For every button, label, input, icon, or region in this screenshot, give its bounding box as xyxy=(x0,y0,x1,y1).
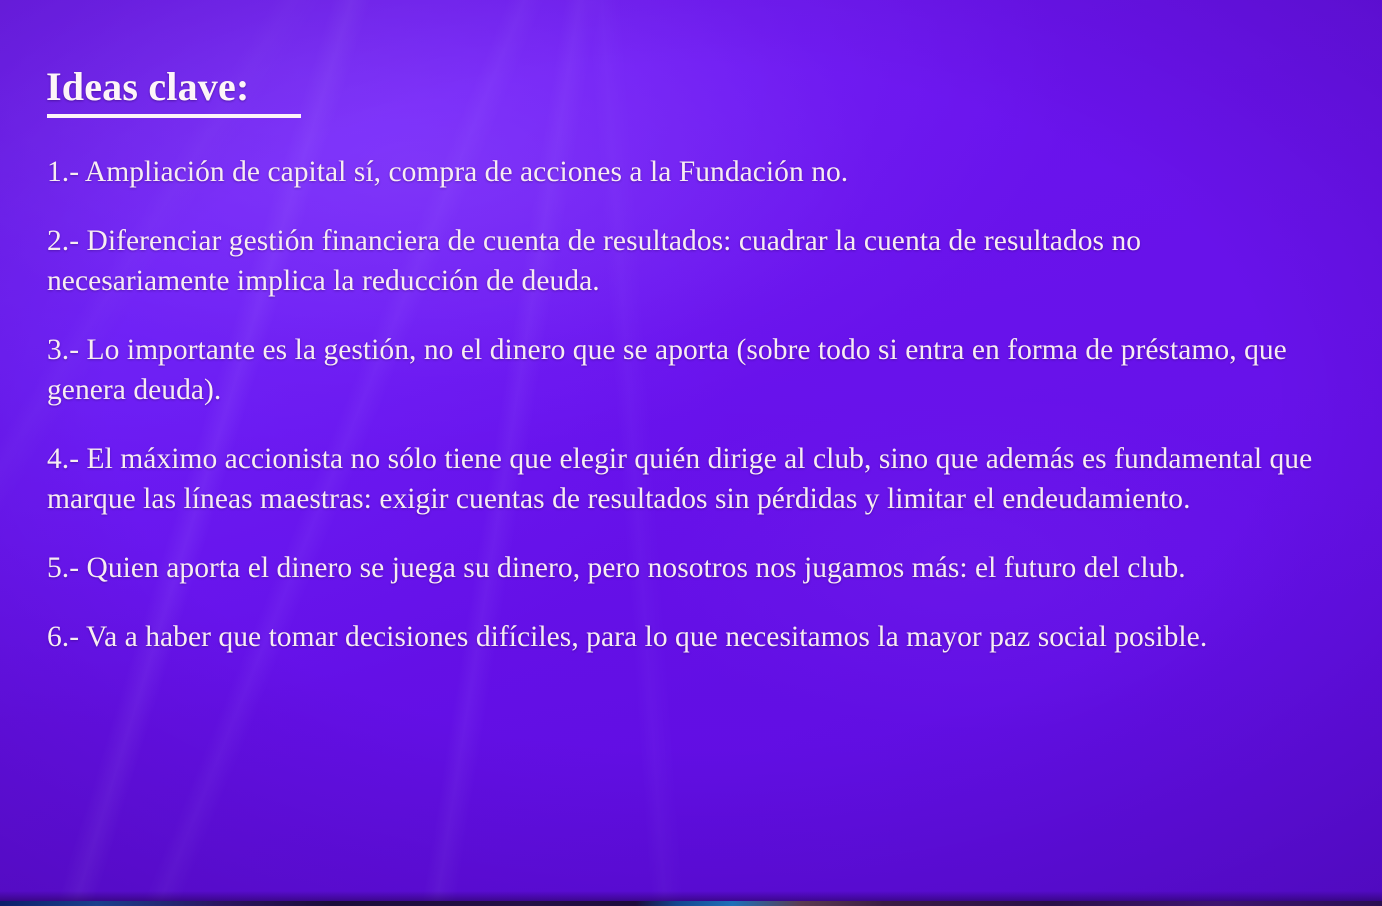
slide-title: Ideas clave: xyxy=(46,63,249,110)
list-item: 4.- El máximo accionista no sólo tiene q… xyxy=(47,439,1319,519)
list-item: 3.- Lo importante es la gestión, no el d… xyxy=(47,330,1337,410)
key-ideas-list: 1.- Ampliación de capital sí, compra de … xyxy=(47,152,1337,657)
list-item: 2.- Diferenciar gestión financiera de cu… xyxy=(47,221,1227,301)
list-item: 1.- Ampliación de capital sí, compra de … xyxy=(47,152,1337,192)
slide-content: Ideas clave: 1.- Ampliación de capital s… xyxy=(46,0,1346,906)
presentation-slide: Ideas clave: 1.- Ampliación de capital s… xyxy=(0,0,1382,906)
list-item: 5.- Quien aporta el dinero se juega su d… xyxy=(47,548,1335,588)
list-item: 6.- Va a haber que tomar decisiones difí… xyxy=(47,617,1282,657)
title-underline xyxy=(47,114,301,118)
